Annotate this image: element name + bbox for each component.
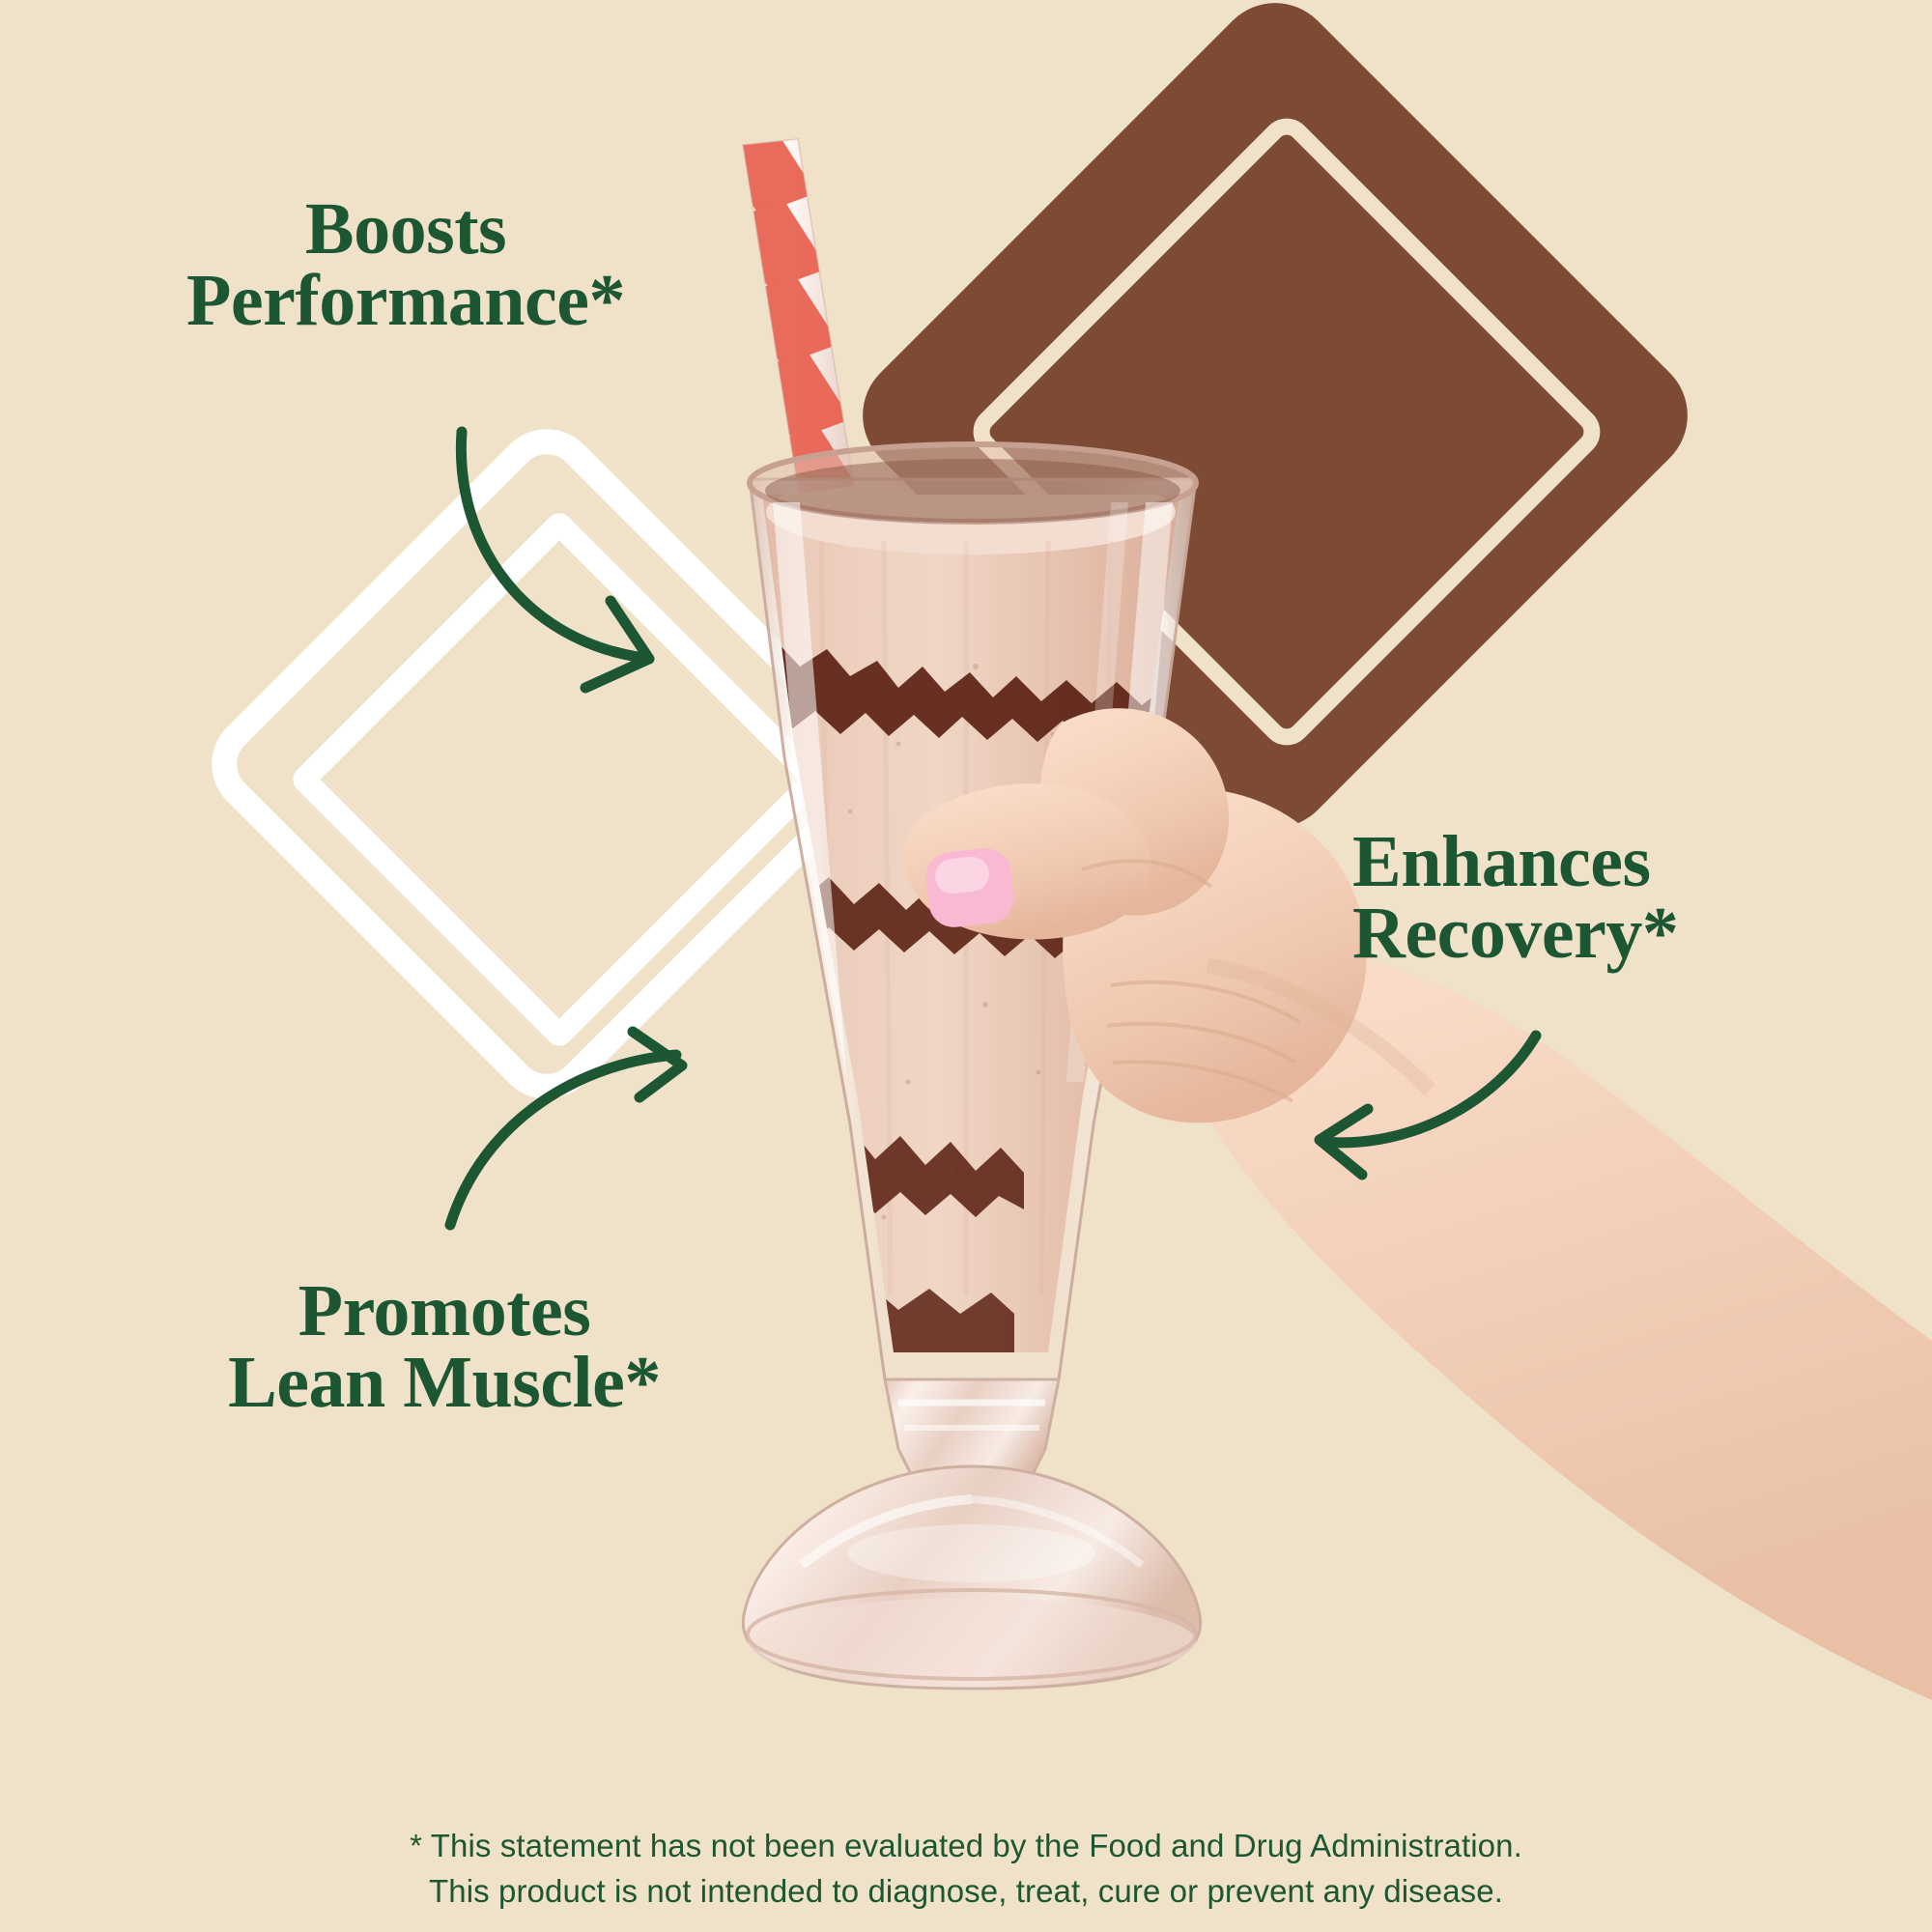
fda-disclaimer: * This statement has not been evaluated …: [0, 1824, 1932, 1915]
arrow-top-left-icon: [461, 432, 649, 688]
benefit-promotes-lean-muscle: Promotes Lean Muscle*: [145, 1275, 744, 1419]
arrow-bottom-left-icon: [450, 1032, 682, 1225]
promo-graphic: Boosts Performance* Enhances Recovery* P…: [0, 0, 1932, 1932]
benefit-enhances-recovery: Enhances Recovery*: [1352, 826, 1893, 970]
benefit-boosts-performance: Boosts Performance*: [116, 193, 696, 337]
